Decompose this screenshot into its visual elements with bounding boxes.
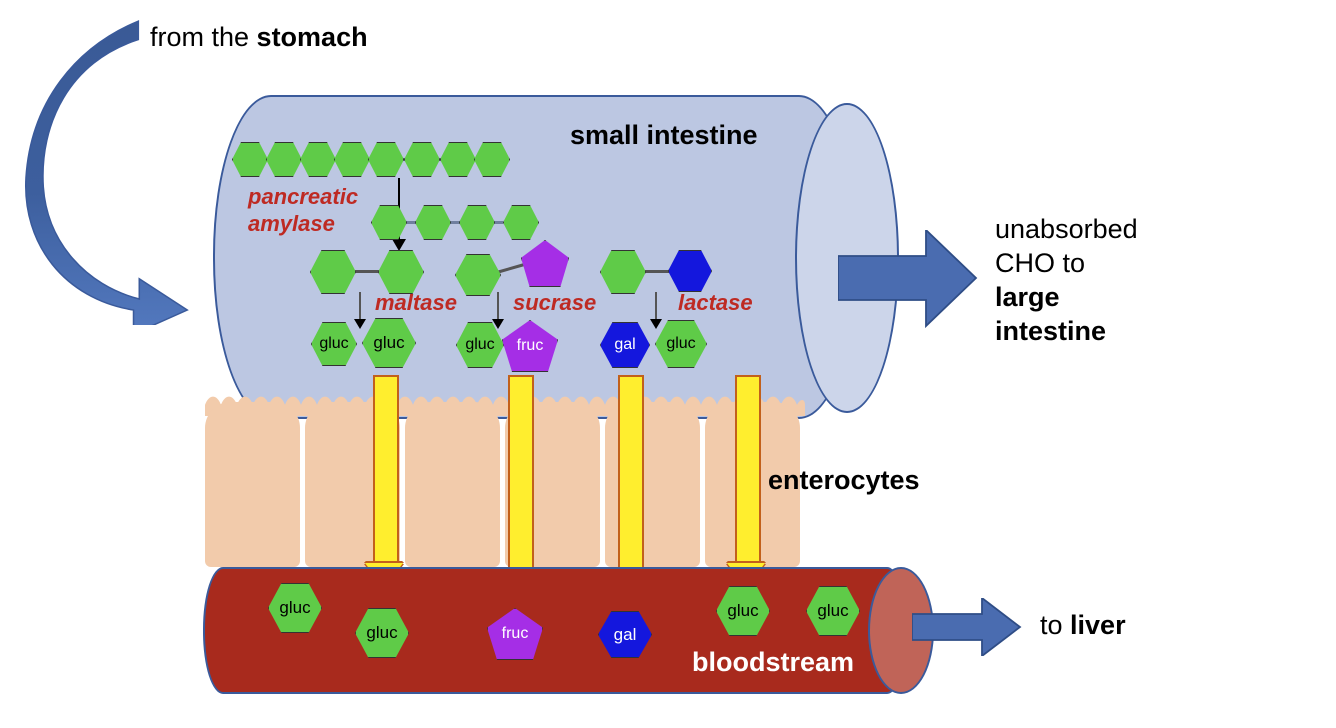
to-liver-bold: liver (1070, 610, 1126, 640)
transport-arrow-2-shaft (508, 375, 534, 591)
large-intestine-line1: large (995, 280, 1060, 314)
from-stomach-curved-arrow (20, 15, 230, 325)
enterocyte-layer (205, 392, 805, 567)
transport-arrow-3-shaft (618, 375, 644, 591)
maltase-label: maltase (375, 289, 457, 316)
unabsorbed-cho-arrow (838, 230, 978, 330)
unabsorbed-cho-line1: unabsorbed (995, 212, 1138, 246)
diagram-canvas: from the stomach small intestine pancrea… (0, 0, 1336, 728)
to-liver-prefix: to (1040, 610, 1070, 640)
from-stomach-label: from the stomach (150, 20, 368, 54)
sucrase-reaction-arrow (497, 292, 499, 320)
lactase-label: lactase (678, 289, 753, 316)
enterocytes-label: enterocytes (768, 463, 920, 497)
pancreatic-amylase-label-line2: amylase (248, 210, 335, 237)
to-liver-arrow (912, 598, 1022, 656)
transport-arrow-1-shaft (373, 375, 399, 571)
large-intestine-line2: intestine (995, 314, 1106, 348)
small-intestine-label: small intestine (570, 118, 758, 152)
unabsorbed-cho-line2: CHO to (995, 246, 1085, 280)
enterocyte-cell-1 (205, 402, 300, 567)
sucrase-label: sucrase (513, 289, 596, 316)
to-liver-label: to liver (1040, 608, 1126, 642)
maltase-reaction-arrow (359, 292, 361, 320)
from-stomach-bold: stomach (257, 22, 368, 52)
enterocyte-cell-3 (405, 402, 500, 567)
lactase-reaction-arrow (655, 292, 657, 320)
pancreatic-amylase-label-line1: pancreatic (248, 183, 358, 210)
bloodstream-label: bloodstream (692, 645, 854, 679)
from-stomach-prefix: from the (150, 22, 257, 52)
transport-arrow-4-shaft (735, 375, 761, 571)
